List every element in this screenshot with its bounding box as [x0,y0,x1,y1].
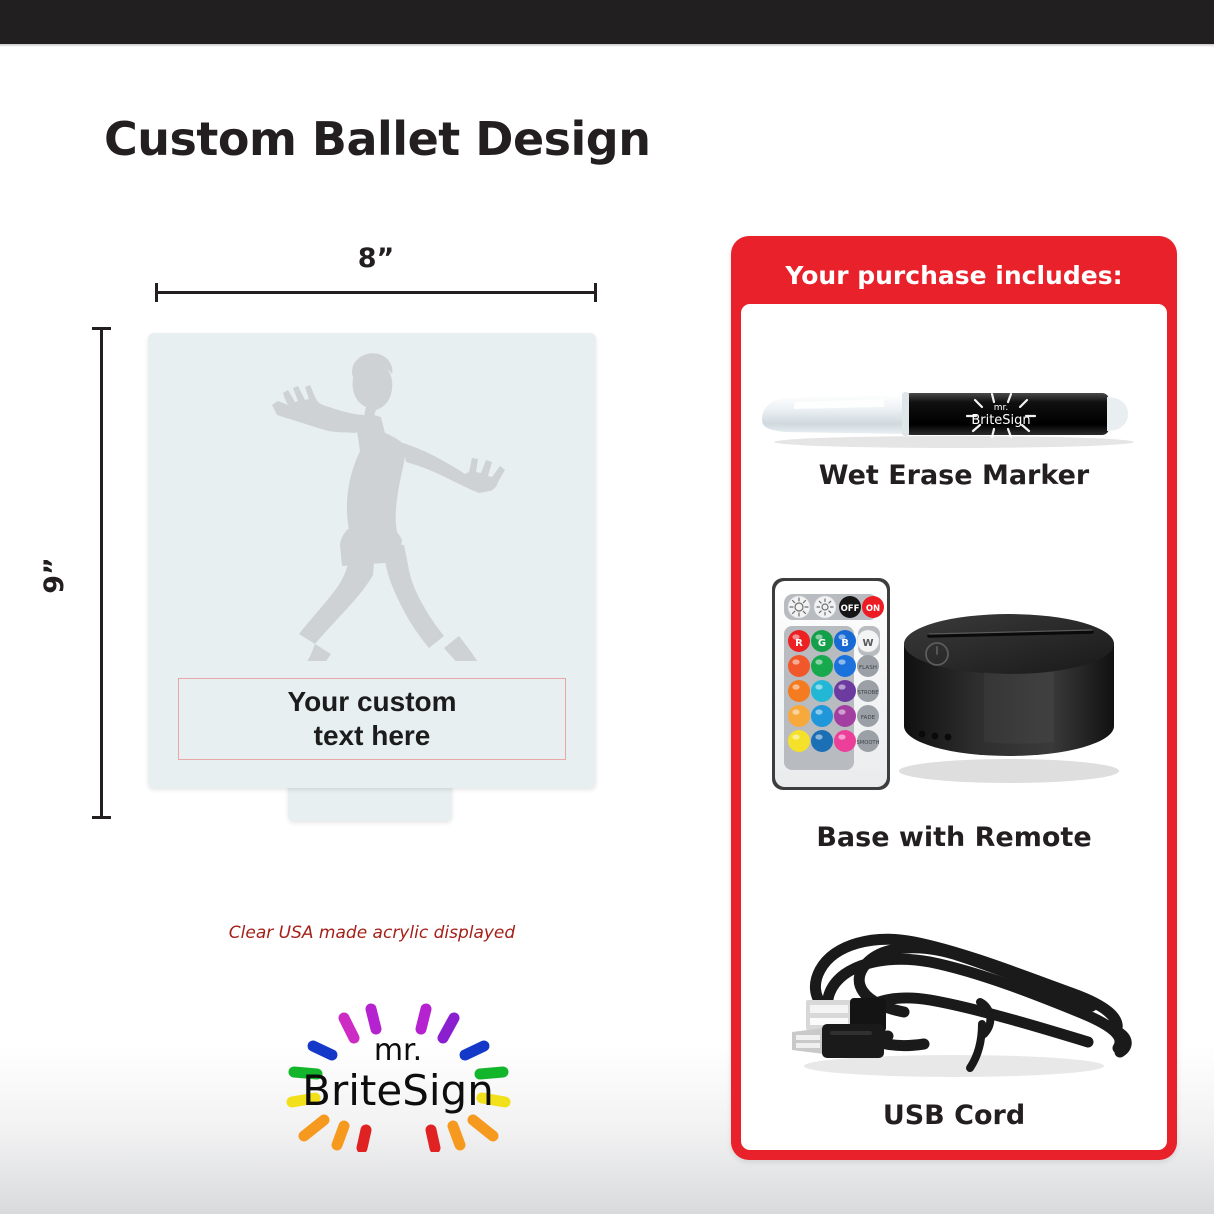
logo-text-line-1: mr. [374,1033,422,1068]
include-label-usb: USB Cord [741,1100,1167,1131]
custom-text-box[interactable]: Your custom text here [178,678,566,760]
marker-logo-line-2: BriteSign [971,413,1030,428]
base-with-remote-icon: OFF ON R G [754,566,1154,816]
acrylic-base-tab [288,785,452,821]
custom-text-line-1: Your custom [287,686,456,717]
off-button-label: OFF [841,604,860,614]
include-label-base: Base with Remote [741,822,1167,853]
mr-britesign-logo: mr. BriteSign [258,1002,538,1152]
height-dimension-cap-bottom [92,816,111,819]
include-item-usb: USB Cord [741,904,1167,1131]
white-button-label: W [862,638,873,649]
height-dimension-line [100,327,103,819]
acrylic-sign-preview: Your custom text here [148,333,596,825]
marker-logo-line-1: mr. [994,403,1009,413]
top-black-bar [0,0,1214,44]
purchase-includes-body: mr. BriteSign Wet Erase Marker [741,304,1167,1150]
ballet-dancer-silhouette-icon [206,351,546,661]
include-item-base: OFF ON R G [741,566,1167,853]
acrylic-panel: Your custom text here [148,333,596,788]
logo-text-line-2: BriteSign [302,1066,494,1115]
micro-usb-connector [792,1024,884,1058]
remote-control: OFF ON R G [772,578,890,790]
smooth-button-label: SMOOTH [856,740,879,746]
blue-button-label: B [841,638,849,649]
usb-cord-icon [754,904,1154,1094]
top-bar-shadow [0,44,1214,47]
wet-erase-marker-icon: mr. BriteSign [754,380,1154,454]
red-button-label: R [795,638,803,649]
strobe-button-label: STROBE [858,690,879,696]
base-with-remote-art: OFF ON R G [741,566,1167,816]
width-dimension-line [155,291,597,294]
purchase-includes-header: Your purchase includes: [741,246,1167,304]
width-dimension-cap-right [594,283,597,302]
usb-cord-art [741,904,1167,1094]
height-dimension-label: 9” [39,557,70,594]
acrylic-caption: Clear USA made acrylic displayed [148,923,596,943]
custom-text-line-2: text here [314,720,431,751]
flash-button-label: FLASH [859,665,877,671]
marker-art: mr. BriteSign [741,380,1167,454]
height-dimension-cap-top [92,327,111,330]
custom-text-content: Your custom text here [287,685,456,753]
page-title: Custom Ballet Design [104,112,650,166]
purchase-includes-panel: Your purchase includes: [731,236,1177,1160]
include-label-marker: Wet Erase Marker [741,460,1167,491]
green-button-label: G [818,638,826,649]
product-infographic: Custom Ballet Design 8” 9” [0,0,1214,1214]
width-dimension-label: 8” [155,243,597,274]
on-button-label: ON [866,604,880,614]
width-dimension-cap-left [155,283,158,302]
fade-button-label: FADE [861,715,876,721]
include-item-marker: mr. BriteSign Wet Erase Marker [741,380,1167,491]
